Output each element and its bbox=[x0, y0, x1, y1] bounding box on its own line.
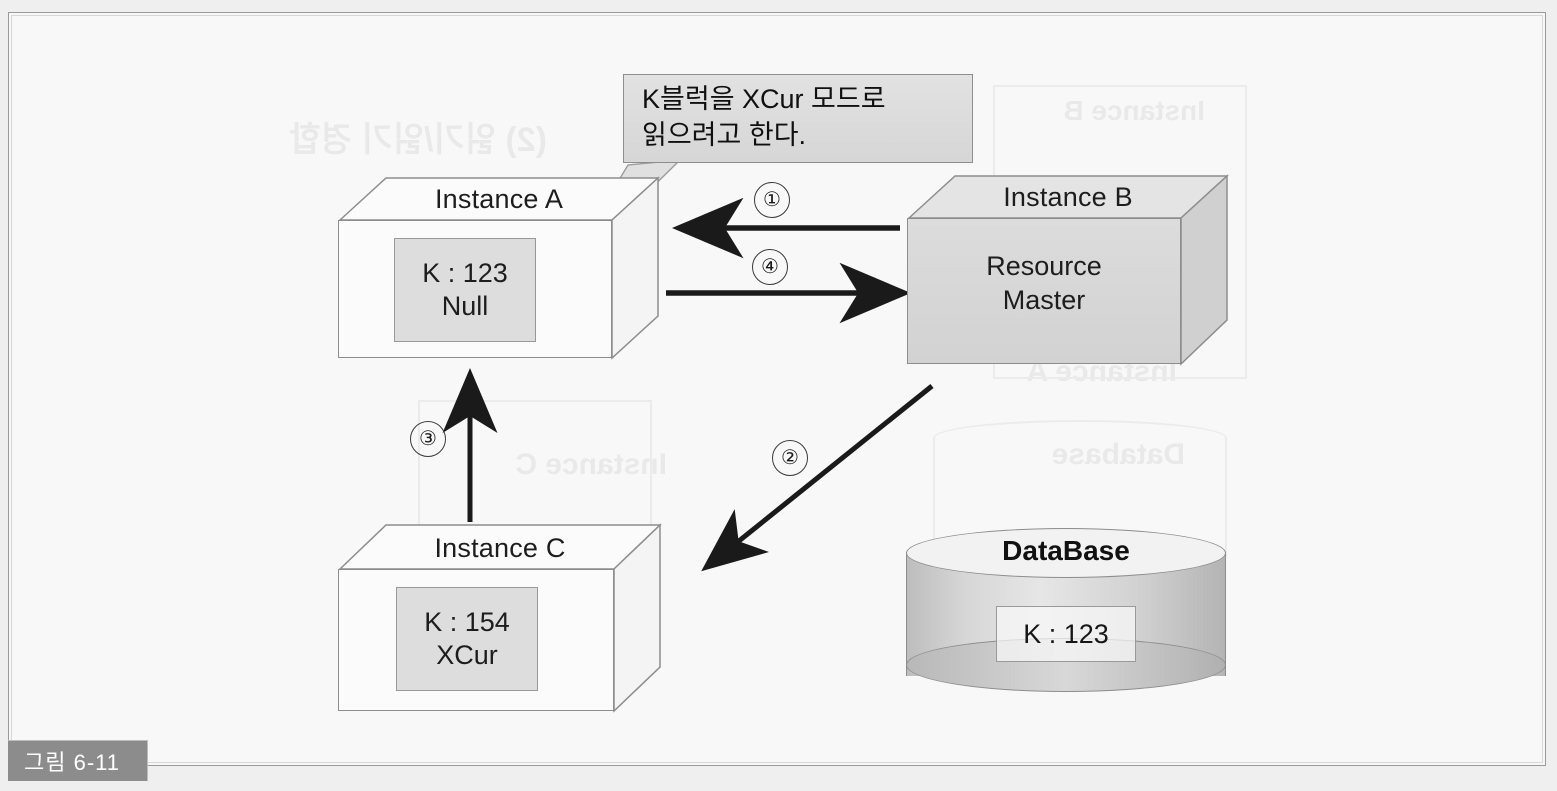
database-block: K : 123 bbox=[996, 606, 1136, 662]
instance-a-block-line-1: K : 123 bbox=[422, 257, 508, 290]
callout-line-2: 읽으려고 한다. bbox=[642, 118, 956, 154]
database-title: DataBase bbox=[906, 535, 1226, 567]
database-block-line-1: K : 123 bbox=[1023, 619, 1109, 650]
node-instance-c[interactable]: Instance C K : 154 XCur bbox=[338, 521, 662, 717]
instance-c-title: Instance C bbox=[338, 533, 662, 564]
instance-c-block: K : 154 XCur bbox=[396, 587, 538, 691]
instance-b-title: Instance B bbox=[907, 182, 1229, 213]
step-marker-3: ③ bbox=[410, 421, 446, 457]
instance-b-body-line-2: Master bbox=[1003, 284, 1086, 318]
node-database[interactable]: DataBase K : 123 bbox=[906, 528, 1226, 700]
instance-b-body-line-1: Resource bbox=[986, 250, 1102, 284]
instance-a-block: K : 123 Null bbox=[394, 238, 536, 342]
node-instance-b[interactable]: Instance B Resource Master bbox=[907, 172, 1229, 370]
node-instance-a[interactable]: Instance A K : 123 Null bbox=[338, 174, 660, 364]
figure-page: Instance B (2) 읽기/읽기 경합 Instance A Datab… bbox=[0, 0, 1557, 791]
figure-caption-label: 그림 6-11 bbox=[24, 745, 120, 777]
instance-c-block-line-1: K : 154 bbox=[424, 606, 510, 639]
instance-b-body: Resource Master bbox=[907, 250, 1181, 318]
instance-c-block-line-2: XCur bbox=[436, 639, 498, 672]
step-marker-2: ② bbox=[772, 440, 808, 476]
callout-line-1: K블럭을 XCur 모드로 bbox=[642, 82, 956, 118]
figure-caption: 그림 6-11 bbox=[8, 740, 148, 781]
instance-a-title: Instance A bbox=[338, 184, 660, 215]
step-marker-1: ① bbox=[754, 182, 790, 218]
callout-bubble: K블럭을 XCur 모드로 읽으려고 한다. bbox=[623, 74, 973, 163]
instance-a-block-line-2: Null bbox=[442, 290, 489, 323]
step-marker-4: ④ bbox=[752, 249, 788, 285]
